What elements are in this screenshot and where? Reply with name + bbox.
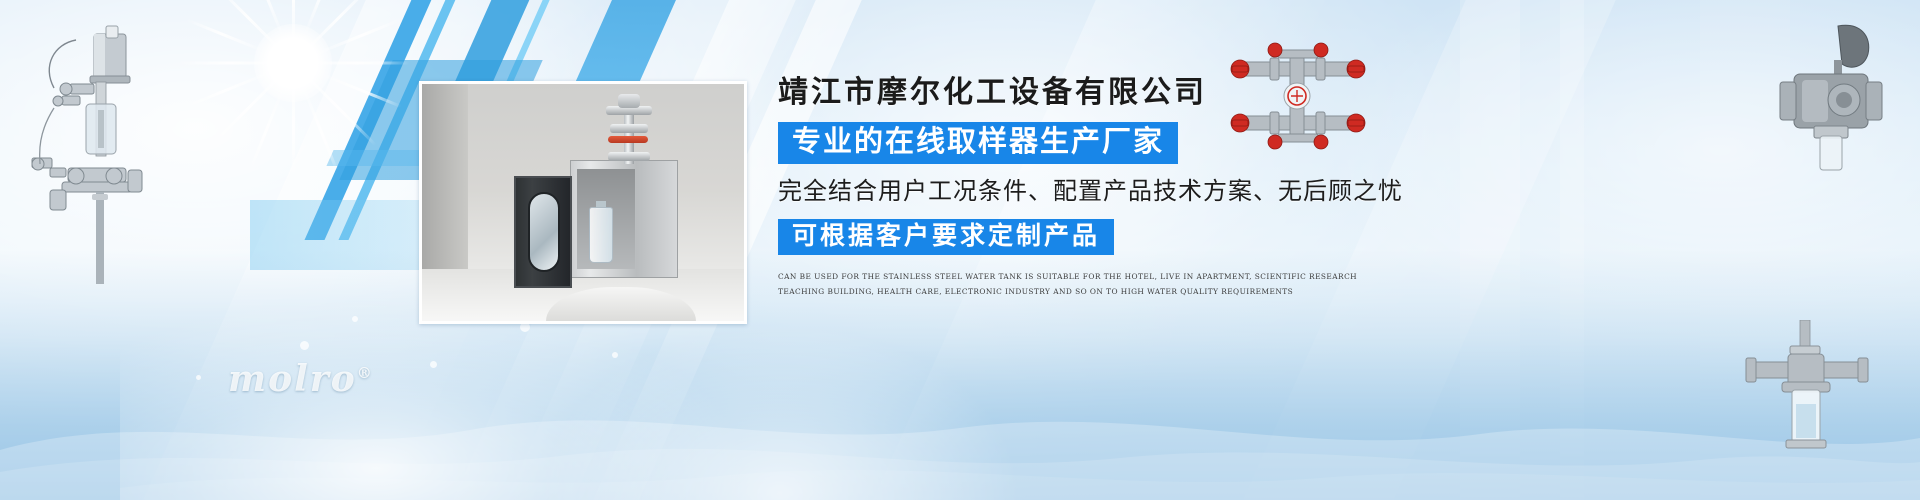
watermark-logo: molro® <box>228 358 374 400</box>
sub-headline: 完全结合用户工况条件、配置产品技术方案、无后顾之忧 <box>778 178 1398 206</box>
secondary-pill: 可根据客户要求定制产品 <box>778 219 1114 255</box>
inline-sampler-valve-icon <box>1738 320 1878 460</box>
sampler-assembly-icon <box>10 18 160 288</box>
droplet <box>612 352 618 358</box>
droplet <box>430 361 437 368</box>
droplet <box>352 316 358 322</box>
blue-stripe-5 <box>572 0 756 90</box>
vertical-band-1 <box>1460 0 1520 500</box>
company-name: 靖江市摩尔化工设备有限公司 <box>778 78 1398 108</box>
photo-valve-head <box>606 102 652 164</box>
flanged-valve-icon <box>1768 20 1898 180</box>
english-paragraph: Can be used for the stainless steel wate… <box>778 270 1380 300</box>
photo-cabinet-door <box>514 176 572 288</box>
droplet <box>196 375 201 380</box>
headline-pill: 专业的在线取样器生产厂家 <box>778 122 1178 164</box>
splash-glow-right <box>520 310 1040 500</box>
droplet <box>300 341 309 350</box>
product-photo-sampler-cabinet <box>419 81 747 324</box>
water-splash-decoration <box>0 310 1920 500</box>
photo-cabinet-body <box>570 160 678 278</box>
vertical-band-2 <box>1560 0 1584 500</box>
watermark-text: molro <box>228 358 357 400</box>
promo-banner: 靖江市摩尔化工设备有限公司 专业的在线取样器生产厂家 完全结合用户工况条件、配置… <box>0 0 1920 500</box>
watermark-registered-mark: ® <box>357 364 374 382</box>
sun-burst-icon <box>178 0 408 178</box>
banner-text-block: 靖江市摩尔化工设备有限公司 专业的在线取样器生产厂家 完全结合用户工况条件、配置… <box>778 78 1398 300</box>
